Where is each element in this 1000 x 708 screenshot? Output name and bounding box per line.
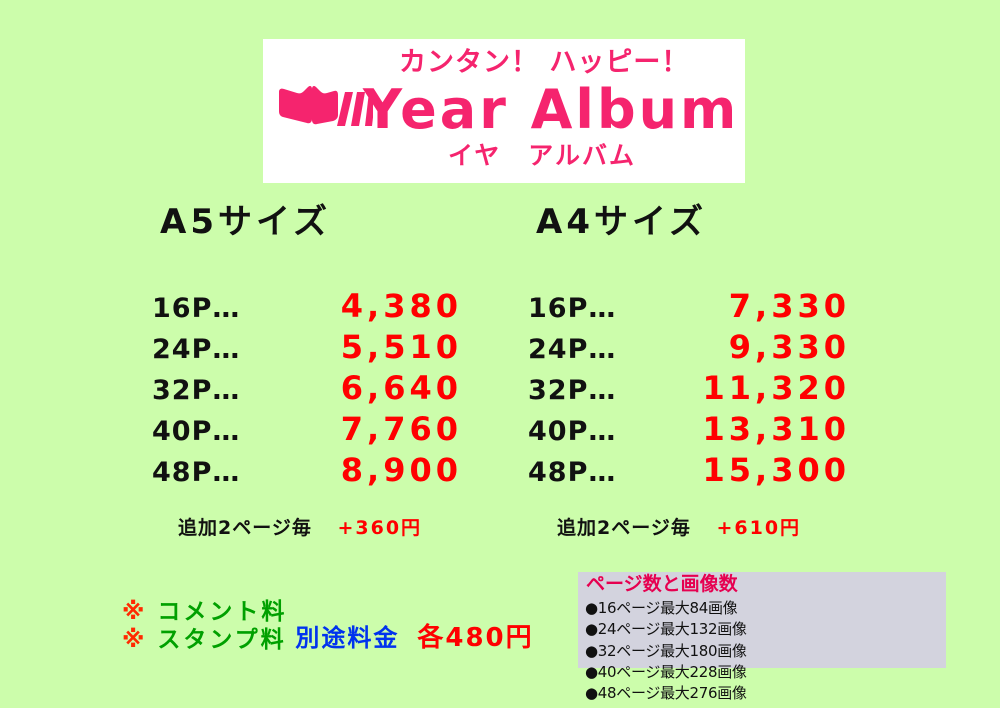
price-amount: 5,510 xyxy=(280,328,462,366)
price-column-a5: A5サイズ 16P… 4,380 24P… 5,510 32P… 6,640 4… xyxy=(152,205,482,492)
extra-page-note-a4: 追加2ページ毎 +610円 xyxy=(557,519,801,538)
price-pages-label: 24P… xyxy=(528,334,650,365)
price-amount: 6,640 xyxy=(280,369,462,407)
price-pages-label: 16P… xyxy=(528,293,650,324)
price-column-a4-heading: A4サイズ xyxy=(536,205,858,239)
price-pages-label: 24P… xyxy=(152,334,280,365)
extra-page-note-text: 追加2ページ毎 xyxy=(178,517,312,539)
asterisk-icon: ※ xyxy=(122,627,147,653)
price-row: 16P… 4,380 xyxy=(152,287,482,325)
page-image-count-list: ●16ページ最大84画像 ●24ページ最大132画像 ●32ページ最大180画像… xyxy=(585,598,943,704)
price-column-a4: A4サイズ 16P… 7,330 24P… 9,330 32P… 11,320 … xyxy=(528,205,858,492)
header-banner: カンタン！ ハッピー！ Year Album イヤ アルバム xyxy=(263,39,745,183)
price-amount: 7,330 xyxy=(650,287,850,325)
open-book-icon xyxy=(277,86,373,136)
separate-fee-label: 別途料金 xyxy=(295,618,399,653)
price-row: 48P… 8,900 xyxy=(152,451,482,489)
page-image-count-item: ●48ページ最大276画像 xyxy=(585,683,768,704)
price-pages-label: 32P… xyxy=(528,375,650,406)
price-row: 32P… 6,640 xyxy=(152,369,482,407)
price-pages-label: 40P… xyxy=(152,416,280,447)
price-amount: 13,310 xyxy=(650,410,850,448)
extra-page-note-price: +360円 xyxy=(337,517,422,539)
price-column-a5-heading: A5サイズ xyxy=(160,205,482,239)
price-pages-label: 16P… xyxy=(152,293,280,324)
price-pages-label: 48P… xyxy=(152,457,280,488)
price-pages-label: 32P… xyxy=(152,375,280,406)
price-pages-label: 48P… xyxy=(528,457,650,488)
price-amount: 4,380 xyxy=(280,287,462,325)
price-row: 40P… 13,310 xyxy=(528,410,858,448)
extra-page-note-price: +610円 xyxy=(716,517,801,539)
banner-tagline: カンタン！ ハッピー！ xyxy=(399,49,739,76)
footnote-label: スタンプ料 xyxy=(157,627,286,653)
banner-subtitle: イヤ アルバム xyxy=(448,143,636,168)
price-amount: 7,760 xyxy=(280,410,462,448)
price-pages-label: 40P… xyxy=(528,416,650,447)
page-image-count-item: ●24ページ最大132画像 xyxy=(585,619,768,640)
separate-fee-value: 各480円 xyxy=(417,617,533,654)
page-image-count-item: ●32ページ最大180画像 xyxy=(585,641,768,662)
banner-title: Year Album xyxy=(363,83,739,137)
price-row: 48P… 15,300 xyxy=(528,451,858,489)
page-image-count-item: ●16ページ最大84画像 xyxy=(585,598,768,619)
footnote-item: ※スタンプ料 xyxy=(122,626,287,654)
separate-fee-note: 別途料金 各480円 xyxy=(295,599,533,654)
footnotes-section: ※コメント料 ※スタンプ料 別途料金 各480円 xyxy=(122,598,534,654)
page-image-count-title: ページ数と画像数 xyxy=(586,575,738,594)
price-row: 16P… 7,330 xyxy=(528,287,858,325)
page-image-count-item: ●40ページ最大228画像 xyxy=(585,662,768,683)
page-image-count-box: ページ数と画像数 ●16ページ最大84画像 ●24ページ最大132画像 ●32ペ… xyxy=(578,572,946,668)
price-amount: 11,320 xyxy=(650,369,850,407)
footnote-list: ※コメント料 ※スタンプ料 xyxy=(122,598,287,654)
poster-canvas: カンタン！ ハッピー！ Year Album イヤ アルバム A5サイズ 16P… xyxy=(0,0,1000,708)
extra-page-note-a5: 追加2ページ毎 +360円 xyxy=(178,519,422,538)
extra-page-note-text: 追加2ページ毎 xyxy=(557,517,691,539)
price-amount: 15,300 xyxy=(650,451,850,489)
price-row: 24P… 5,510 xyxy=(152,328,482,366)
asterisk-icon: ※ xyxy=(122,599,147,625)
price-amount: 8,900 xyxy=(280,451,462,489)
price-amount: 9,330 xyxy=(650,328,850,366)
price-row: 40P… 7,760 xyxy=(152,410,482,448)
footnote-label: コメント料 xyxy=(157,599,287,625)
price-row: 24P… 9,330 xyxy=(528,328,858,366)
footnote-item: ※コメント料 xyxy=(122,598,287,626)
price-row: 32P… 11,320 xyxy=(528,369,858,407)
